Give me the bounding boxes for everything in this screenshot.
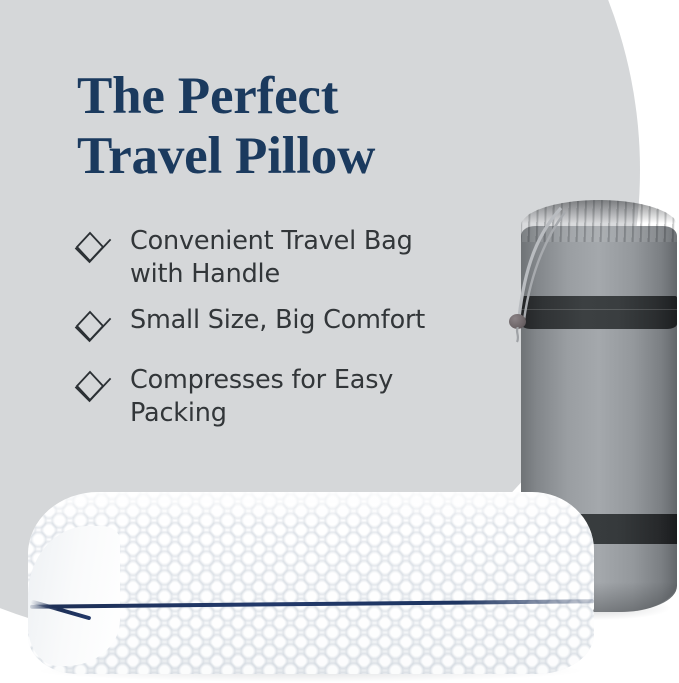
list-item: Small Size, Big Comfort <box>70 304 490 350</box>
diamond-check-icon <box>70 366 118 410</box>
headline-line-2: Travel Pillow <box>77 126 497 186</box>
product-feature-banner: The Perfect Travel Pillow Convenient Tra… <box>0 0 679 683</box>
list-item-label: Small Size, Big Comfort <box>130 304 425 337</box>
list-item-label: Convenient Travel Bag with Handle <box>130 225 470 290</box>
headline-line-1: The Perfect <box>77 66 497 126</box>
bag-cord-tail <box>512 327 524 343</box>
diamond-check-icon <box>70 227 118 271</box>
page-title: The Perfect Travel Pillow <box>77 66 497 187</box>
list-item-label: Compresses for Easy Packing <box>130 364 470 429</box>
feature-list: Convenient Travel Bag with Handle Small … <box>70 225 490 444</box>
list-item: Convenient Travel Bag with Handle <box>70 225 490 290</box>
memory-foam-pillow-image <box>28 492 594 677</box>
diamond-check-icon <box>70 306 118 350</box>
list-item: Compresses for Easy Packing <box>70 364 490 429</box>
